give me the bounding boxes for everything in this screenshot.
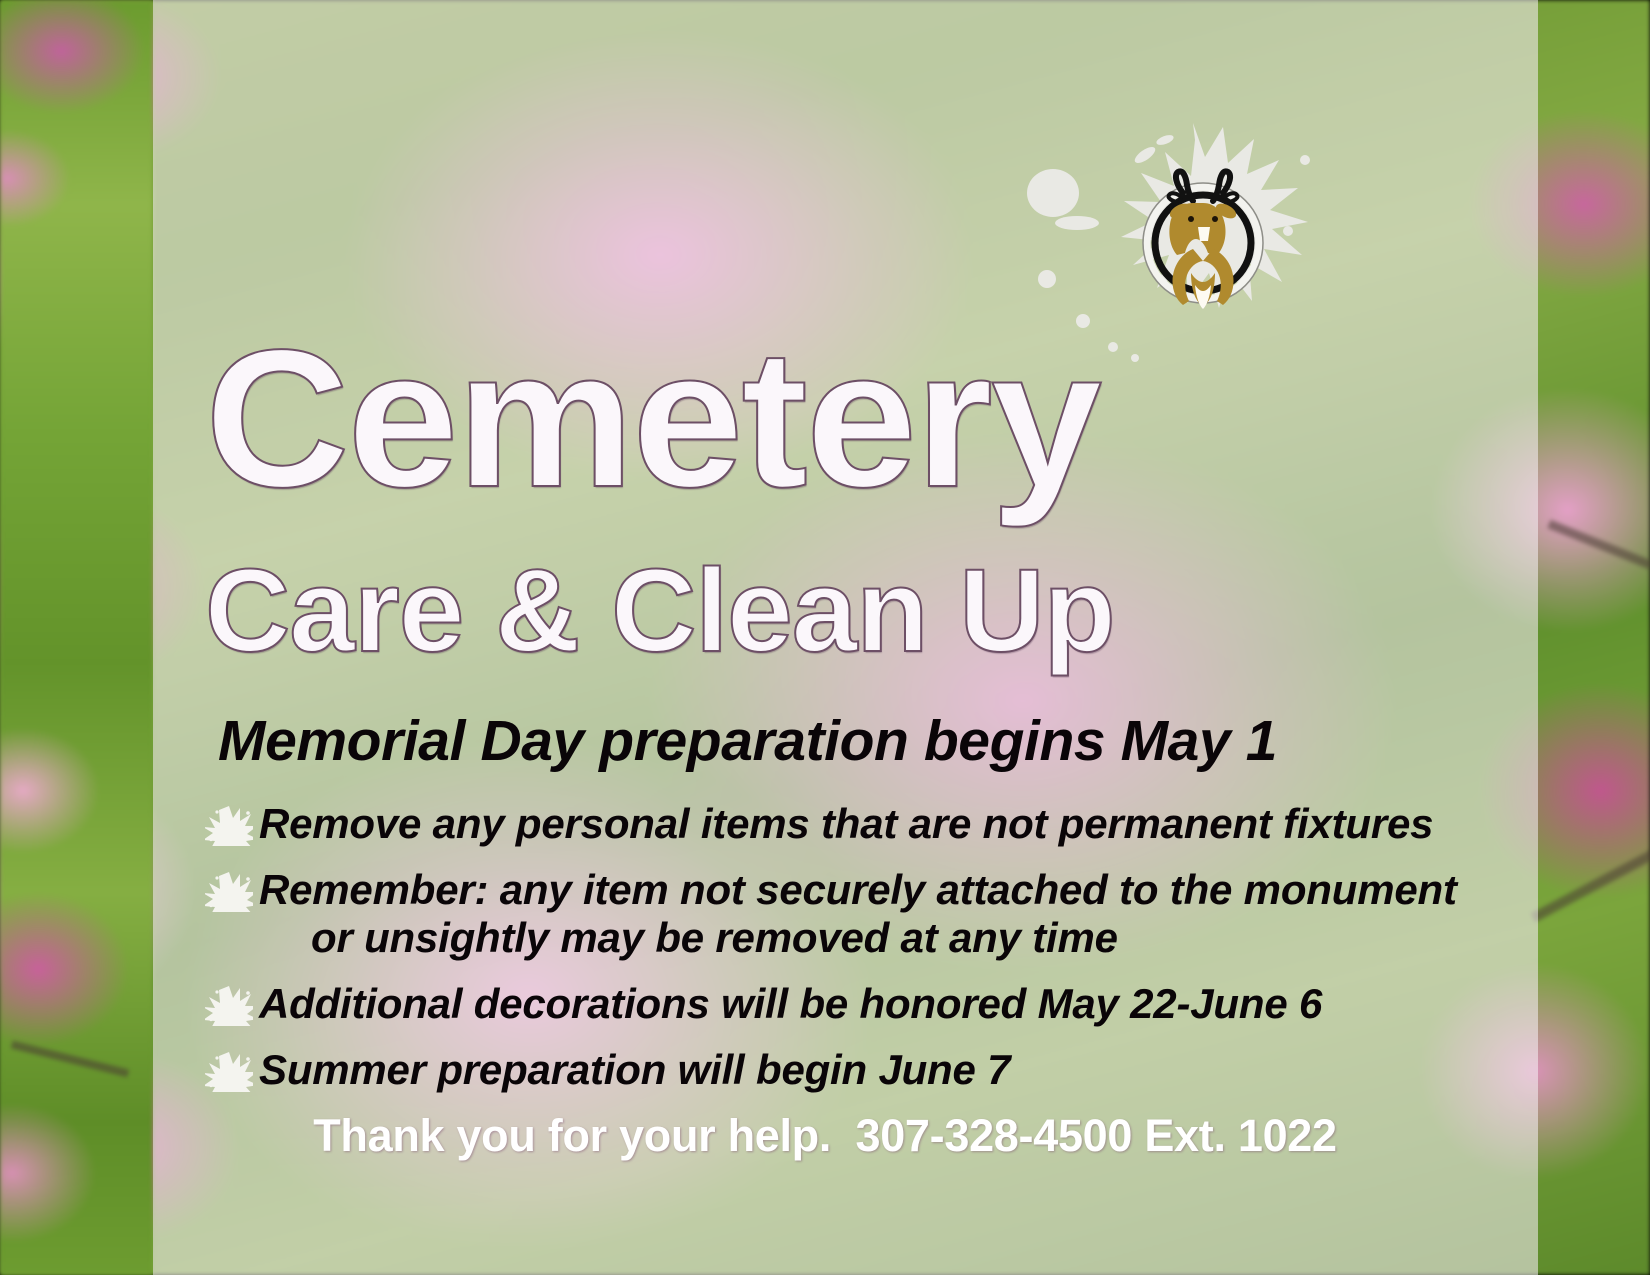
splatter-bullet-icon [205,804,253,846]
list-item-label: Remove any personal items that are not p… [259,800,1433,849]
list-item: Remove any personal items that are not p… [205,800,1515,849]
list-item-line2: or unsightly may be removed at any time [259,914,1457,963]
list-item-line1: Summer preparation will begin June 7 [259,1046,1010,1093]
list-item-label: Summer preparation will begin June 7 [259,1046,1010,1095]
list-item-label: Remember: any item not securely attached… [259,866,1457,963]
poster-canvas: Cemetery Care & Clean Up Memorial Day pr… [0,0,1650,1275]
list-item: Summer preparation will begin June 7 [205,1046,1515,1095]
list-item-line1: Additional decorations will be honored M… [259,980,1322,1027]
list-item: Remember: any item not securely attached… [205,866,1515,963]
tagline: Memorial Day preparation begins May 1 [218,713,1277,770]
splatter-bullet-icon [205,1050,253,1092]
splatter-bullet-icon [205,870,253,912]
bullet-list: Remove any personal items that are not p… [205,800,1515,1112]
splatter-bullet-icon [205,984,253,1026]
footer-phone: 307-328-4500 Ext. 1022 [831,1110,1337,1161]
list-item-line1: Remember: any item not securely attached… [259,866,1457,913]
list-item-line1: Remove any personal items that are not p… [259,800,1433,847]
poster-content: Cemetery Care & Clean Up Memorial Day pr… [0,0,1650,1275]
page-subtitle: Care & Clean Up [205,552,1115,670]
list-item-label: Additional decorations will be honored M… [259,980,1322,1029]
page-title: Cemetery [205,333,1100,505]
list-item: Additional decorations will be honored M… [205,980,1515,1029]
footer-thanks: Thank you for your help. [313,1110,831,1161]
footer-contact: Thank you for your help. 307-328-4500 Ex… [0,1113,1650,1158]
